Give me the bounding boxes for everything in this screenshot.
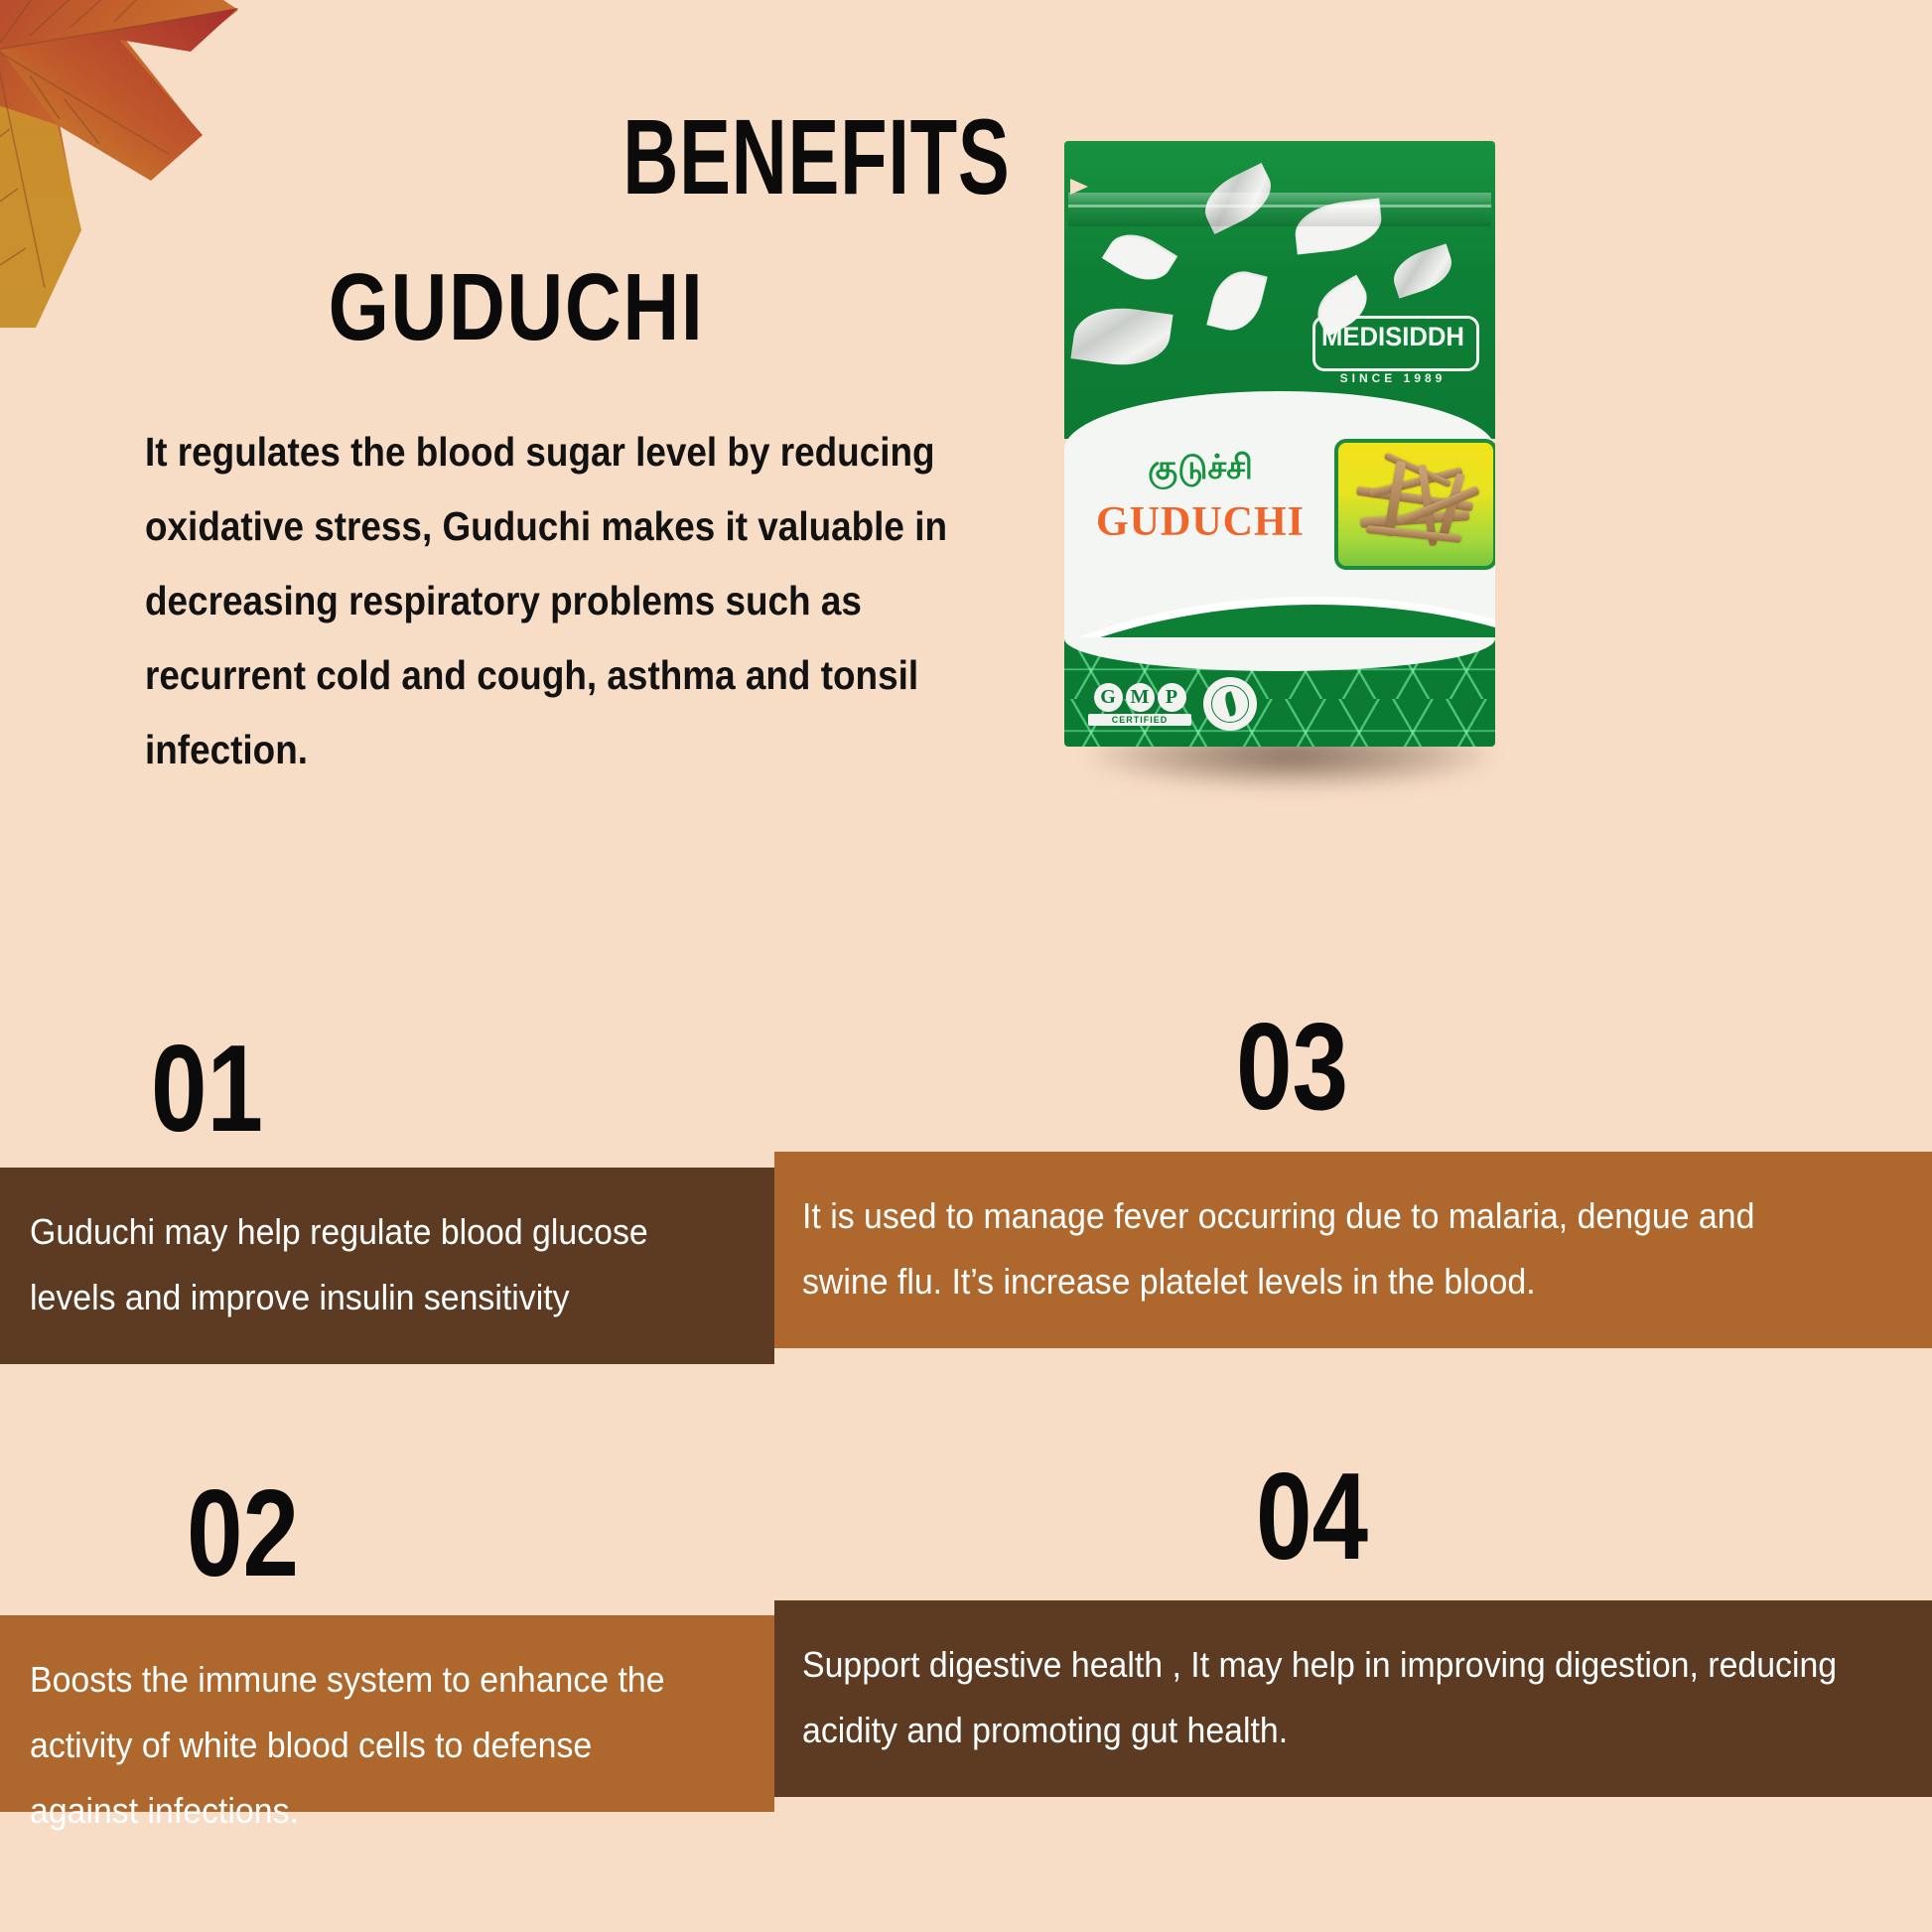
benefit-number-03: 03 [1236,1006,1348,1129]
gmp-certified-label: CERTIFIED [1088,714,1191,726]
page-title: BENEFITS [622,103,966,210]
pouch-zipper [1068,193,1491,226]
benefit-text-01: Guduchi may help regulate blood glucose … [30,1199,702,1330]
brand-tagline: SINCE 1989 [1312,371,1473,385]
benefit-number-02: 02 [187,1472,299,1595]
autumn-maple-leaf-icon [0,0,268,328]
product-name: GUDUCHI [1086,498,1314,546]
gmp-letter-m: M [1126,683,1155,712]
benefit-text-04: Support digestive health , It may help i… [802,1632,1838,1763]
gmp-certified-badge: G M P CERTIFIED [1088,683,1191,729]
natural-product-seal-icon [1203,677,1257,731]
benefit-text-03: It is used to manage fever occurring due… [802,1183,1838,1314]
pouch-bottom-band: G M P CERTIFIED [1064,637,1495,747]
benefit-number-04: 04 [1256,1455,1368,1579]
benefit-text-02: Boosts the immune system to enhance the … [30,1647,702,1844]
page-subtitle: GUDUCHI [256,260,777,355]
product-pouch-image: MEDISIDDH SINCE 1989 குடுச்சி GUDUCHI [1064,141,1495,747]
infographic-canvas: BENEFITS GUDUCHI It regulates the blood … [0,0,1932,1932]
gmp-letter-p: P [1158,683,1186,712]
benefit-block-01: Guduchi may help regulate blood glucose … [0,1168,774,1364]
intro-paragraph: It regulates the blood sugar level by re… [145,415,949,787]
benefit-block-02: Boosts the immune system to enhance the … [0,1615,774,1812]
brand-name: MEDISIDDH [1316,322,1469,352]
benefit-block-04: Support digestive health , It may help i… [774,1600,1932,1797]
benefit-number-01: 01 [151,1028,263,1151]
guduchi-root-photo [1334,439,1495,570]
product-name-tamil: குடுச்சி [1086,449,1314,491]
gmp-letter-g: G [1094,683,1123,712]
benefit-block-03: It is used to manage fever occurring due… [774,1152,1932,1348]
